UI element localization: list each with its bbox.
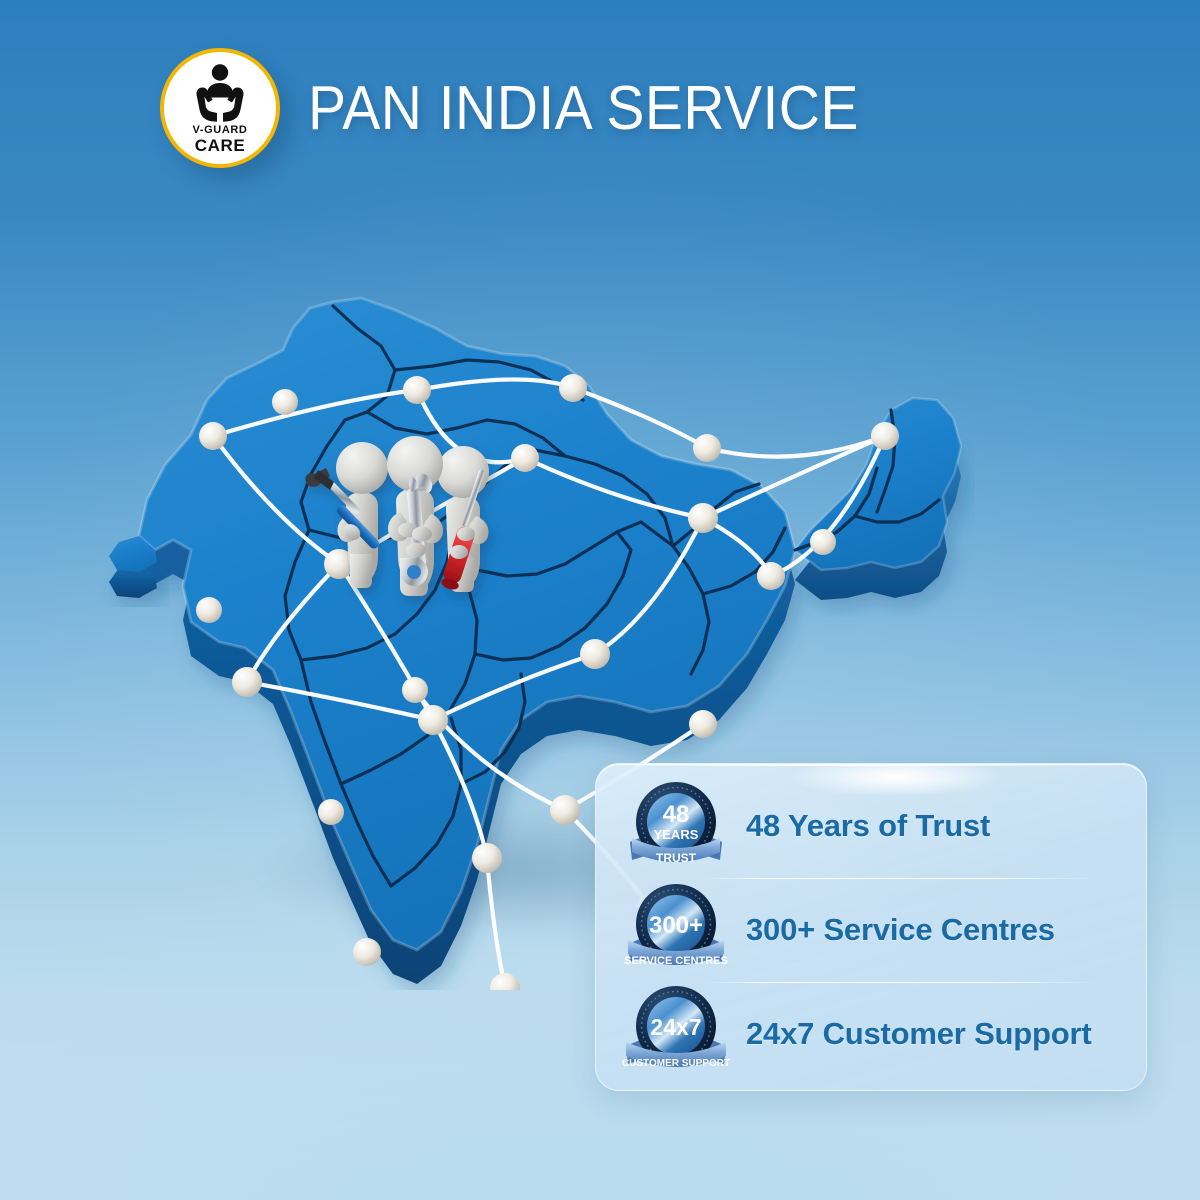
badge-main-text: 48 — [663, 801, 690, 828]
highlight-label-trust: 48 Years of Trust — [746, 808, 990, 844]
technician-left — [305, 442, 388, 588]
logo-line-1: V-GUARD — [193, 125, 248, 136]
three-service-technicians — [300, 430, 560, 620]
badge-300-plus: 300+ SERVICE CENTRES — [622, 880, 730, 980]
highlight-label-customer-support: 24x7 Customer Support — [746, 1016, 1092, 1052]
highlights-panel: 48 YEARS TRUST 48 Years of Trust — [595, 763, 1147, 1091]
technician-right — [437, 446, 489, 592]
page-title: PAN INDIA SERVICE — [308, 73, 859, 144]
badge-seal-icon: 24x7 CUSTOMER SUPPORT — [622, 984, 730, 1084]
technician-middle — [387, 436, 443, 596]
highlight-row-trust: 48 YEARS TRUST 48 Years of Trust — [596, 774, 1146, 878]
badge-24x7: 24x7 CUSTOMER SUPPORT — [622, 984, 730, 1084]
logo-line-2: CARE — [195, 137, 246, 155]
badge-48-years: 48 YEARS TRUST — [622, 776, 730, 876]
technicians-illustration — [300, 430, 560, 620]
highlight-row-customer-support: 24x7 CUSTOMER SUPPORT 24x7 Customer Supp… — [596, 982, 1146, 1086]
highlight-label-service-centres: 300+ Service Centres — [746, 912, 1055, 948]
badge-seal-icon: 48 YEARS TRUST — [622, 776, 730, 876]
badge-main-text: 300+ — [649, 912, 703, 939]
badge-seal-icon: 300+ SERVICE CENTRES — [622, 880, 730, 980]
vguard-care-logo: V-GUARD CARE — [160, 48, 280, 168]
hands-cradling-person-icon — [182, 63, 258, 123]
badge-ribbon-text: CUSTOMER SUPPORT — [622, 1058, 730, 1069]
badge-sub-text: YEARS — [654, 827, 699, 842]
highlight-row-service-centres: 300+ SERVICE CENTRES 300+ Service Centre… — [596, 878, 1146, 982]
header: V-GUARD CARE PAN INDIA SERVICE — [160, 48, 907, 168]
badge-ribbon-text: SERVICE CENTRES — [624, 955, 728, 967]
badge-main-text: 24x7 — [650, 1014, 701, 1040]
badge-ribbon-text: TRUST — [656, 851, 697, 865]
